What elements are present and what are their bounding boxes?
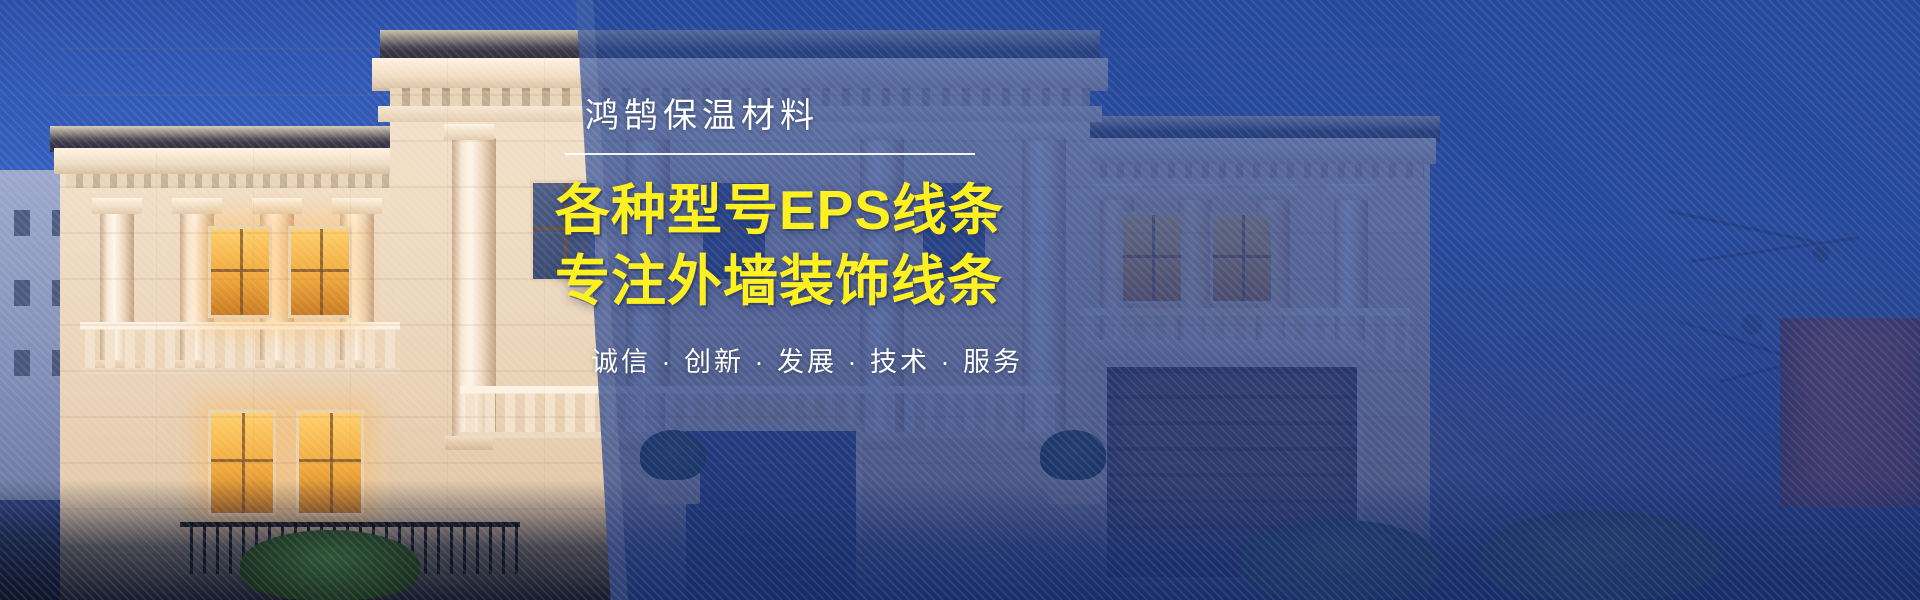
brand-title: 鸿鹄保温材料 — [585, 96, 1025, 137]
shrub — [1240, 520, 1440, 600]
shrub — [1040, 430, 1106, 480]
headline-line-1: 各种型号EPS线条 — [555, 177, 1025, 244]
title-divider — [565, 153, 975, 155]
shrub — [240, 530, 420, 600]
tagline: 诚信 · 创新 · 发展 · 技术 · 服务 — [591, 345, 1025, 380]
shrub — [1480, 510, 1720, 600]
banner-text-block: 鸿鹄保温材料 各种型号EPS线条 专注外墙装饰线条 诚信 · 创新 · 发展 ·… — [555, 96, 1025, 380]
headline-line-2: 专注外墙装饰线条 — [555, 248, 1025, 315]
promo-banner: 鸿鹄保温材料 各种型号EPS线条 专注外墙装饰线条 诚信 · 创新 · 发展 ·… — [0, 0, 1920, 600]
shrub — [640, 430, 706, 480]
